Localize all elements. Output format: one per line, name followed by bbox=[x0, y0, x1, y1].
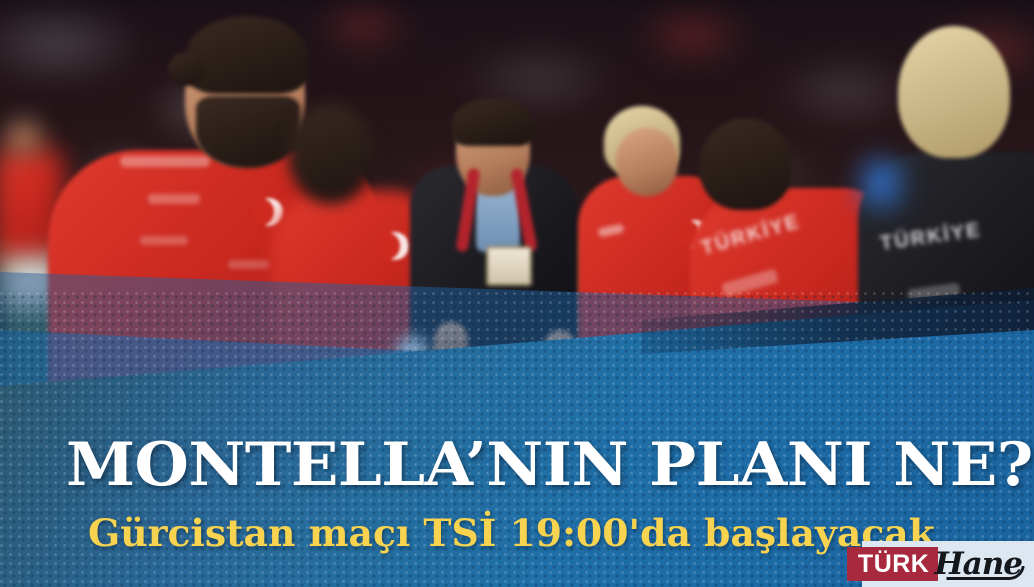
coach-accreditation-badge bbox=[486, 246, 532, 286]
foreground-player-left-beard bbox=[196, 96, 300, 168]
sponsor-wordmark-left-2 bbox=[140, 236, 188, 245]
subheadline: Gürcistan maçı TSİ 19:00'da başlayacak bbox=[88, 515, 935, 552]
sponsor-wordmark-left bbox=[148, 194, 200, 204]
sponsor-wordmark-left-3 bbox=[228, 260, 270, 269]
turkey-crest-icon-left-2 bbox=[372, 232, 400, 260]
site-logo[interactable]: TÜRK Hane bbox=[841, 541, 1034, 587]
headline: MONTELLA’NIN PLANI NE? bbox=[66, 435, 1033, 495]
foreground-player-right-head bbox=[616, 128, 678, 196]
news-image-card: TÜRKİYE TÜRKİYE MONTELLA’NIN PLANI NE? G… bbox=[0, 0, 1034, 587]
turkey-crest-icon-left bbox=[246, 198, 274, 226]
logo-mark-turk: TÜRK bbox=[847, 547, 938, 581]
foreground-player-left-2-head bbox=[288, 104, 374, 204]
background-person-blue bbox=[862, 160, 900, 206]
sponsor-stripe-left bbox=[120, 156, 210, 167]
background-player-left-head bbox=[8, 122, 40, 156]
foreground-player-left-hair-bun bbox=[168, 52, 204, 86]
foreground-player-left-hair bbox=[186, 16, 308, 94]
coach-hair bbox=[452, 98, 534, 146]
staff-right-head bbox=[898, 26, 1010, 158]
logo-swoosh-icon bbox=[946, 566, 1024, 580]
player-back-turkiye-head bbox=[700, 118, 792, 210]
logo-wordmark-hane: Hane bbox=[934, 541, 1034, 587]
